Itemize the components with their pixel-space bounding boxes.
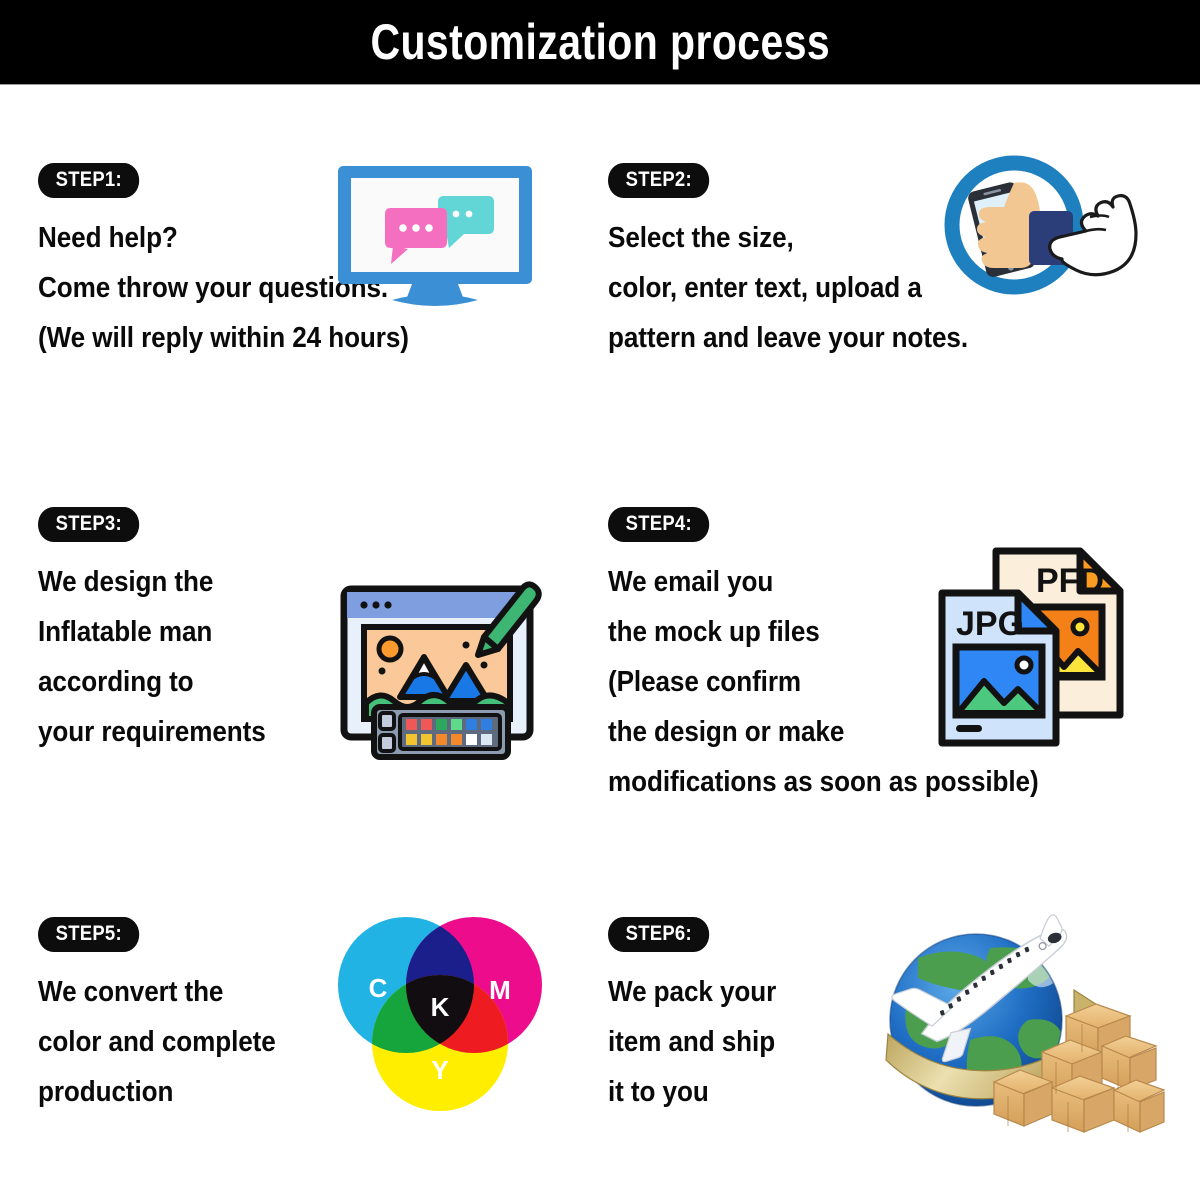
- step-text-line: your requirements: [38, 708, 266, 758]
- cmyk-label-c: C: [369, 973, 388, 1003]
- step-text-line: We pack your: [608, 968, 776, 1018]
- step-badge-5: STEP5:: [38, 917, 139, 952]
- step-badge-6: STEP6:: [608, 917, 709, 952]
- step-text-line: We design the: [38, 558, 266, 608]
- step-text-line: We convert the: [38, 968, 276, 1018]
- phone-tap-icon: [926, 155, 1156, 310]
- step-card-3: STEP3: We design the Inflatable man acco…: [38, 507, 291, 758]
- page-header: Customization process: [0, 0, 1200, 85]
- cmyk-label-m: M: [489, 975, 511, 1005]
- design-editor-icon: [338, 565, 548, 775]
- monitor-chat-icon: [330, 158, 540, 318]
- steps-grid: STEP1: Need help? Come throw your questi…: [0, 85, 1200, 1200]
- step-badge-1: STEP1:: [38, 163, 139, 198]
- step-text-line: color, enter text, upload a: [608, 264, 968, 314]
- file-label-pfd: PFD: [1036, 562, 1104, 600]
- step-text-line: according to: [38, 658, 266, 708]
- step-badge-4: STEP4:: [608, 507, 709, 542]
- step-text-2: Select the size, color, enter text, uplo…: [608, 214, 968, 364]
- cmyk-venn-icon: C M Y K: [314, 909, 564, 1124]
- globe-shipping-icon: [878, 912, 1168, 1142]
- step-text-line: Select the size,: [608, 214, 968, 264]
- step-text-line: modifications as soon as possible): [608, 758, 1039, 808]
- page-title: Customization process: [370, 13, 830, 71]
- step-badge-3: STEP3:: [38, 507, 139, 542]
- mockup-files-icon: PFD JPG: [928, 537, 1143, 752]
- step-text-line: item and ship: [608, 1018, 776, 1068]
- file-jpg: JPG: [942, 593, 1056, 743]
- step-text-line: Inflatable man: [38, 608, 266, 658]
- step-text-5: We convert the color and complete produc…: [38, 968, 276, 1118]
- step-card-5: STEP5: We convert the color and complete…: [38, 917, 302, 1118]
- step-text-line: production: [38, 1068, 276, 1118]
- step-text-line: pattern and leave your notes.: [608, 314, 968, 364]
- step-text-6: We pack your item and ship it to you: [608, 968, 776, 1118]
- step-text-line: color and complete: [38, 1018, 276, 1068]
- step-text-3: We design the Inflatable man according t…: [38, 558, 266, 758]
- step-text-line: it to you: [608, 1068, 776, 1118]
- step-card-2: STEP2: Select the size, color, enter tex…: [608, 163, 1008, 364]
- step-card-1: STEP1: Need help? Come throw your questi…: [38, 163, 450, 364]
- step-card-4: STEP4: We email you the mock up files (P…: [608, 507, 1086, 807]
- cmyk-label-k: K: [431, 992, 450, 1022]
- step-badge-2: STEP2:: [608, 163, 709, 198]
- file-label-jpg: JPG: [956, 605, 1024, 643]
- step-card-6: STEP6: We pack your item and ship it to …: [608, 917, 795, 1118]
- step-text-line: (We will reply within 24 hours): [38, 314, 409, 364]
- cmyk-label-y: Y: [431, 1055, 448, 1085]
